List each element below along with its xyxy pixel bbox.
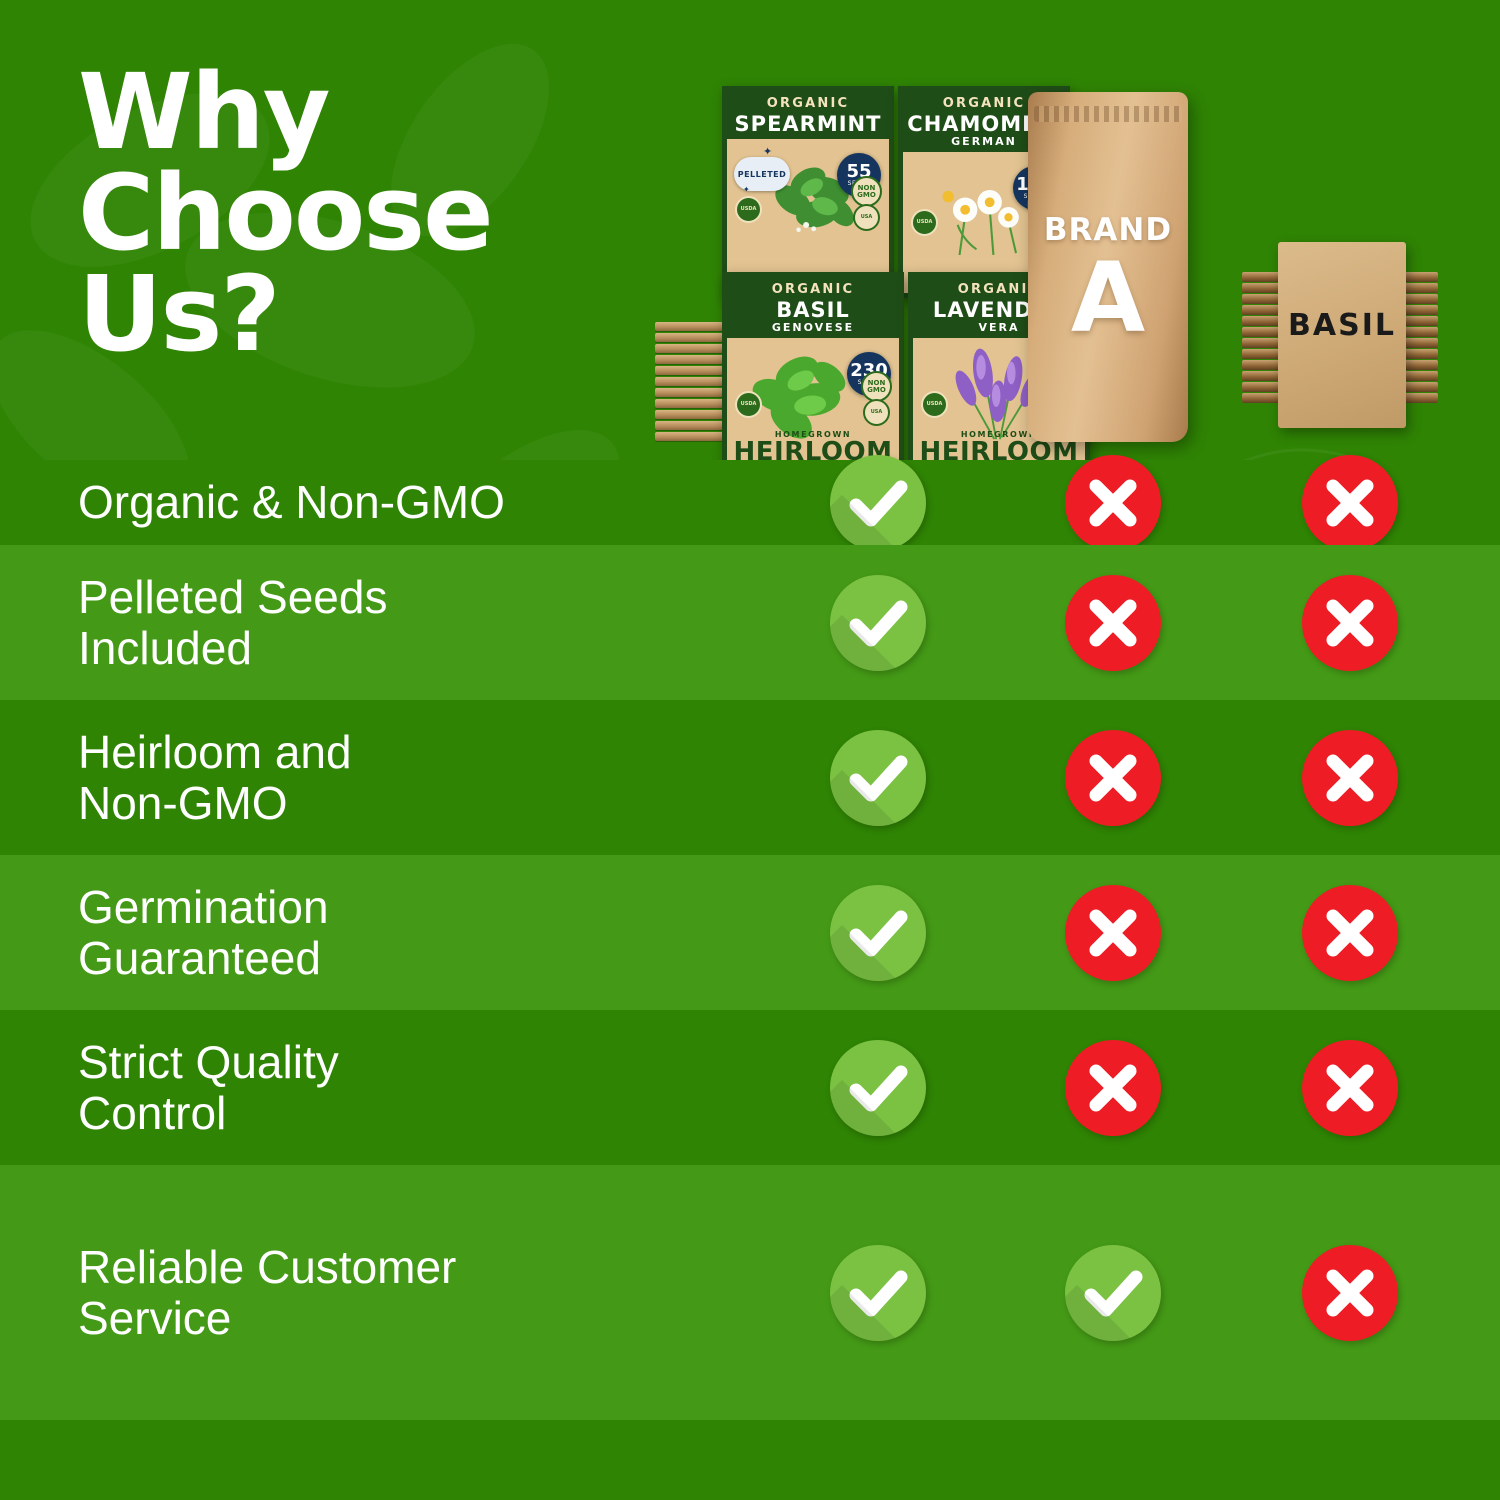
comparison-cell-plain-basil-envelope: [1302, 1245, 1398, 1341]
comparison-cell-our-product: [830, 1245, 926, 1341]
packet-organic-label: ORGANIC: [727, 91, 889, 114]
check-icon: [830, 1245, 926, 1341]
page-title: Why Choose Us?: [78, 62, 492, 365]
check-icon: [830, 730, 926, 826]
feature-label: Strict Quality Control: [0, 1037, 800, 1138]
competitor-plain-envelope-group[interactable]: BASIL: [1242, 242, 1442, 437]
feature-label: Heirloom and Non-GMO: [0, 727, 800, 828]
check-icon: [830, 575, 926, 671]
plain-basil-envelope: BASIL: [1278, 242, 1406, 428]
feature-label: Organic & Non-GMO: [0, 477, 800, 528]
cross-icon: [1302, 455, 1398, 551]
check-icon: [1065, 1245, 1161, 1341]
comparison-cell-plain-basil-envelope: [1302, 455, 1398, 551]
cross-icon: [1302, 1040, 1398, 1136]
comparison-cell-our-product: [830, 885, 926, 981]
cross-icon: [1065, 885, 1161, 981]
cross-icon: [1065, 1040, 1161, 1136]
comparison-cell-our-product: [830, 455, 926, 551]
cross-icon: [1302, 730, 1398, 826]
comparison-row: Heirloom and Non-GMO: [0, 700, 1500, 855]
sparkle-icon: ✦: [763, 145, 772, 158]
comparison-cell-brand-a-pouch: [1065, 455, 1161, 551]
comparison-cells: [800, 700, 1500, 855]
packet-organic-label: ORGANIC: [727, 277, 899, 300]
check-icon: [830, 885, 926, 981]
comparison-cell-plain-basil-envelope: [1302, 575, 1398, 671]
comparison-cell-brand-a-pouch: [1065, 1245, 1161, 1341]
comparison-row: Organic & Non-GMO: [0, 460, 1500, 545]
feature-label: Pelleted Seeds Included: [0, 572, 800, 673]
comparison-row: Germination Guaranteed: [0, 855, 1500, 1010]
comparison-cells: [800, 1010, 1500, 1165]
sparkle-icon: ✦: [743, 185, 750, 194]
packet-artwork-basil: 230 SEEDS NONGMO USDA USA: [727, 338, 899, 442]
seed-packet-spearmint[interactable]: ORGANIC SPEARMINT: [722, 86, 894, 298]
competitor-brand-a-pouch[interactable]: BRAND A: [1028, 92, 1188, 442]
envelope-label: BASIL: [1278, 308, 1406, 343]
comparison-cells: [800, 545, 1500, 700]
comparison-cell-brand-a-pouch: [1065, 885, 1161, 981]
comparison-cell-our-product: [830, 575, 926, 671]
comparison-cell-plain-basil-envelope: [1302, 885, 1398, 981]
seed-packet-basil[interactable]: ORGANIC BASIL GENOVESE: [722, 272, 904, 484]
cross-icon: [1065, 730, 1161, 826]
comparison-row: Pelleted Seeds Included: [0, 545, 1500, 700]
comparison-cell-brand-a-pouch: [1065, 575, 1161, 671]
product-imagery: ORGANIC SPEARMINT: [640, 72, 1480, 472]
check-icon: [830, 1040, 926, 1136]
packet-name: SPEARMINT: [727, 114, 889, 139]
pouch-brand-letter: A: [1028, 250, 1188, 346]
check-icon: [830, 455, 926, 551]
comparison-cell-plain-basil-envelope: [1302, 1040, 1398, 1136]
comparison-cells: [800, 1165, 1500, 1420]
seed-packet-grid: ORGANIC SPEARMINT: [722, 86, 1062, 466]
comparison-cells: [800, 460, 1500, 545]
comparison-cell-our-product: [830, 1040, 926, 1136]
comparison-row: Strict Quality Control: [0, 1010, 1500, 1165]
comparison-cell-our-product: [830, 730, 926, 826]
comparison-row: Reliable Customer Service: [0, 1165, 1500, 1420]
hero-section: Why Choose Us? ORGANIC SPEARMINT: [0, 0, 1500, 460]
cross-icon: [1065, 455, 1161, 551]
comparison-cell-brand-a-pouch: [1065, 730, 1161, 826]
bottom-strip: [0, 1420, 1500, 1500]
feature-label: Germination Guaranteed: [0, 882, 800, 983]
cross-icon: [1302, 1245, 1398, 1341]
packet-artwork-spearmint: PELLETED ✦ ✦ 55 SEEDS NONGMO USDA USA: [727, 139, 889, 247]
feature-label: Reliable Customer Service: [0, 1242, 800, 1343]
cross-icon: [1065, 575, 1161, 671]
comparison-cells: [800, 855, 1500, 1010]
packet-name: BASIL GENOVESE: [727, 300, 899, 338]
comparison-cell-brand-a-pouch: [1065, 1040, 1161, 1136]
cross-icon: [1302, 575, 1398, 671]
cross-icon: [1302, 885, 1398, 981]
comparison-cell-plain-basil-envelope: [1302, 730, 1398, 826]
comparison-table: Organic & Non-GMOPelleted Seeds Included…: [0, 460, 1500, 1420]
